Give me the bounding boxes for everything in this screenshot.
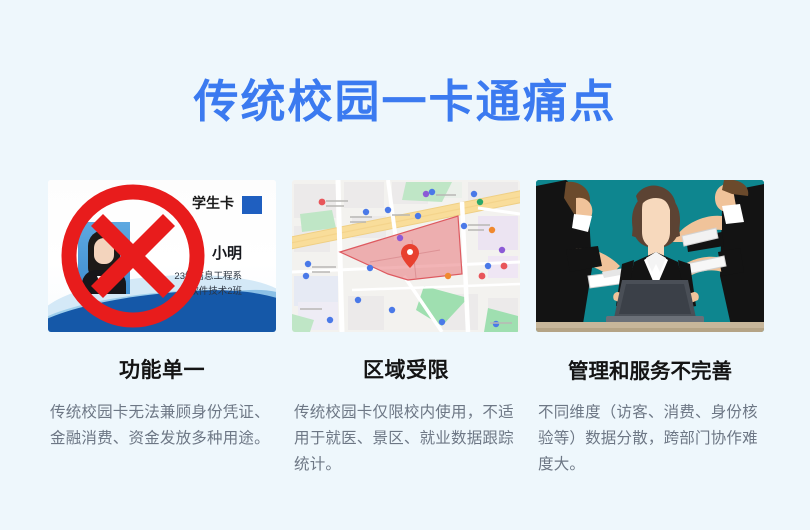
card-body-text: 传统校园卡无法兼顾身份凭证、金融消费、资金发放多种用途。	[50, 400, 274, 452]
school-logo-icon	[242, 196, 262, 214]
thumbnail-office-illustration	[536, 180, 764, 332]
card-area-restricted: 区域受限 传统校园卡仅限校内使用，不适用于就医、景区、就业数据跟踪统计。	[292, 180, 520, 478]
photo-face-shape	[94, 238, 114, 264]
student-department: 23级信息工程系	[174, 268, 242, 282]
office-graphic	[536, 180, 764, 332]
card-body-text: 不同维度（访客、消费、身份核验等）数据分散，跨部门协作难度大。	[538, 400, 762, 478]
card-heading: 区域受限	[363, 354, 449, 384]
card-heading: 功能单一	[119, 354, 205, 384]
cards-row: 学生卡 小明 23级信息工程系 软件技术2班	[48, 180, 764, 478]
thumbnail-map	[292, 180, 520, 332]
map-graphic	[292, 180, 520, 332]
student-photo	[78, 222, 130, 294]
student-name: 小明	[212, 242, 242, 263]
page-title: 传统校园一卡通痛点	[0, 76, 810, 128]
student-class: 软件技术2班	[189, 283, 242, 297]
slide-root: 传统校园一卡通痛点 学生卡 小明	[0, 0, 810, 530]
office-svg	[536, 180, 764, 332]
card-body-text: 传统校园卡仅限校内使用，不适用于就医、景区、就业数据跟踪统计。	[294, 400, 518, 478]
card-type-label: 学生卡	[192, 193, 234, 213]
card-management-incomplete: 管理和服务不完善 不同维度（访客、消费、身份核验等）数据分散，跨部门协作难度大。	[536, 180, 764, 478]
card-heading: 管理和服务不完善	[568, 354, 732, 384]
card-function-limited: 学生卡 小明 23级信息工程系 软件技术2班	[48, 180, 276, 478]
student-id-card-graphic: 学生卡 小明 23级信息工程系 软件技术2班	[48, 180, 276, 332]
thumbnail-student-id-card: 学生卡 小明 23级信息工程系 软件技术2班	[48, 180, 276, 332]
map-svg	[292, 180, 520, 332]
